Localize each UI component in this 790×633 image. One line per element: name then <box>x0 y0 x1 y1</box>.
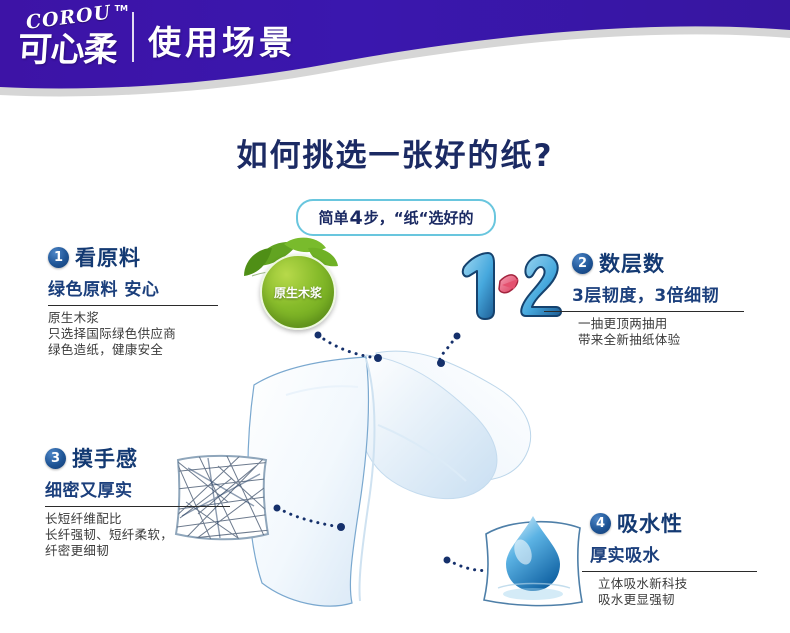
green-circle-label-wrap: 原生木浆 <box>260 254 336 330</box>
section-4-title: 吸水性 <box>617 508 683 538</box>
section-4-badge: 4 <box>590 513 611 534</box>
raw-material-badge: 原生木浆 <box>238 232 348 342</box>
connector-dot <box>444 557 451 564</box>
section-1-head: 1 看原料 <box>48 242 248 272</box>
connector-dot <box>337 523 345 531</box>
section-1-body: 原生木浆 只选择国际绿色供应商 绿色造纸，健康安全 <box>48 310 248 358</box>
section-4-rule <box>582 571 757 572</box>
one-to-two-icon <box>450 245 570 325</box>
section-4-head: 4 吸水性 <box>590 508 790 538</box>
connector-dot <box>454 333 461 340</box>
section-4-line-2: 吸水更显强韧 <box>598 592 790 608</box>
section-1-badge: 1 <box>48 247 69 268</box>
section-1-rule <box>48 305 218 306</box>
section-2-head: 2 数层数 <box>572 248 787 278</box>
section-3-subtitle: 细密又厚实 <box>45 476 245 501</box>
section-4-subtitle: 厚实吸水 <box>590 541 790 566</box>
feature-section-3: 3 摸手感 细密又厚实 长短纤维配比 长纤强韧、短纤柔软， 纤密更细韧 <box>45 443 245 559</box>
section-1-line-2: 只选择国际绿色供应商 <box>48 326 248 342</box>
layers-number-graphic <box>450 245 570 325</box>
absorbency-graphic <box>478 508 588 608</box>
section-2-body: 一抽更顶两抽用 带来全新抽纸体验 <box>572 316 787 348</box>
pill-suffix: 步，“纸“选好的 <box>364 207 474 228</box>
section-1-subtitle: 绿色原料 安心 <box>48 275 248 300</box>
section-1-line-1: 原生木浆 <box>48 310 248 326</box>
section-3-head: 3 摸手感 <box>45 443 245 473</box>
section-1-line-3: 绿色造纸，健康安全 <box>48 342 248 358</box>
section-3-line-3: 纤密更细韧 <box>45 543 245 559</box>
section-2-line-1: 一抽更顶两抽用 <box>578 316 787 332</box>
water-drop-icon <box>478 508 588 608</box>
connector-dot <box>437 359 445 367</box>
feature-section-4: 4 吸水性 厚实吸水 立体吸水新科技 吸水更显强韧 <box>590 508 790 608</box>
section-4-line-1: 立体吸水新科技 <box>598 576 790 592</box>
section-2-title: 数层数 <box>599 248 665 278</box>
feature-section-2: 2 数层数 3层韧度，3倍细韧 一抽更顶两抽用 带来全新抽纸体验 <box>572 248 787 348</box>
section-3-line-1: 长短纤维配比 <box>45 511 245 527</box>
section-3-title: 摸手感 <box>72 443 138 473</box>
section-2-badge: 2 <box>572 253 593 274</box>
pill-prefix: 简单 <box>319 207 349 228</box>
green-circle-label: 原生木浆 <box>274 284 322 301</box>
section-1-title: 看原料 <box>75 242 141 272</box>
steps-pill: 简单 4 步，“纸“选好的 <box>296 199 496 236</box>
pill-number: 4 <box>349 207 364 229</box>
section-4-body: 立体吸水新科技 吸水更显强韧 <box>590 576 790 608</box>
connector-dot <box>374 354 382 362</box>
section-2-subtitle: 3层韧度，3倍细韧 <box>572 281 787 306</box>
section-3-body: 长短纤维配比 长纤强韧、短纤柔软， 纤密更细韧 <box>45 511 245 559</box>
section-3-badge: 3 <box>45 448 66 469</box>
page-root: COROU TM 可心柔 使用场景 如何挑选一张好的纸? 简单 4 步，“纸“选… <box>0 0 790 633</box>
section-2-line-2: 带来全新抽纸体验 <box>578 332 787 348</box>
section-2-rule <box>544 311 744 312</box>
feature-section-1: 1 看原料 绿色原料 安心 原生木浆 只选择国际绿色供应商 绿色造纸，健康安全 <box>48 242 248 358</box>
section-3-rule <box>45 506 230 507</box>
section-3-line-2: 长纤强韧、短纤柔软， <box>45 527 245 543</box>
